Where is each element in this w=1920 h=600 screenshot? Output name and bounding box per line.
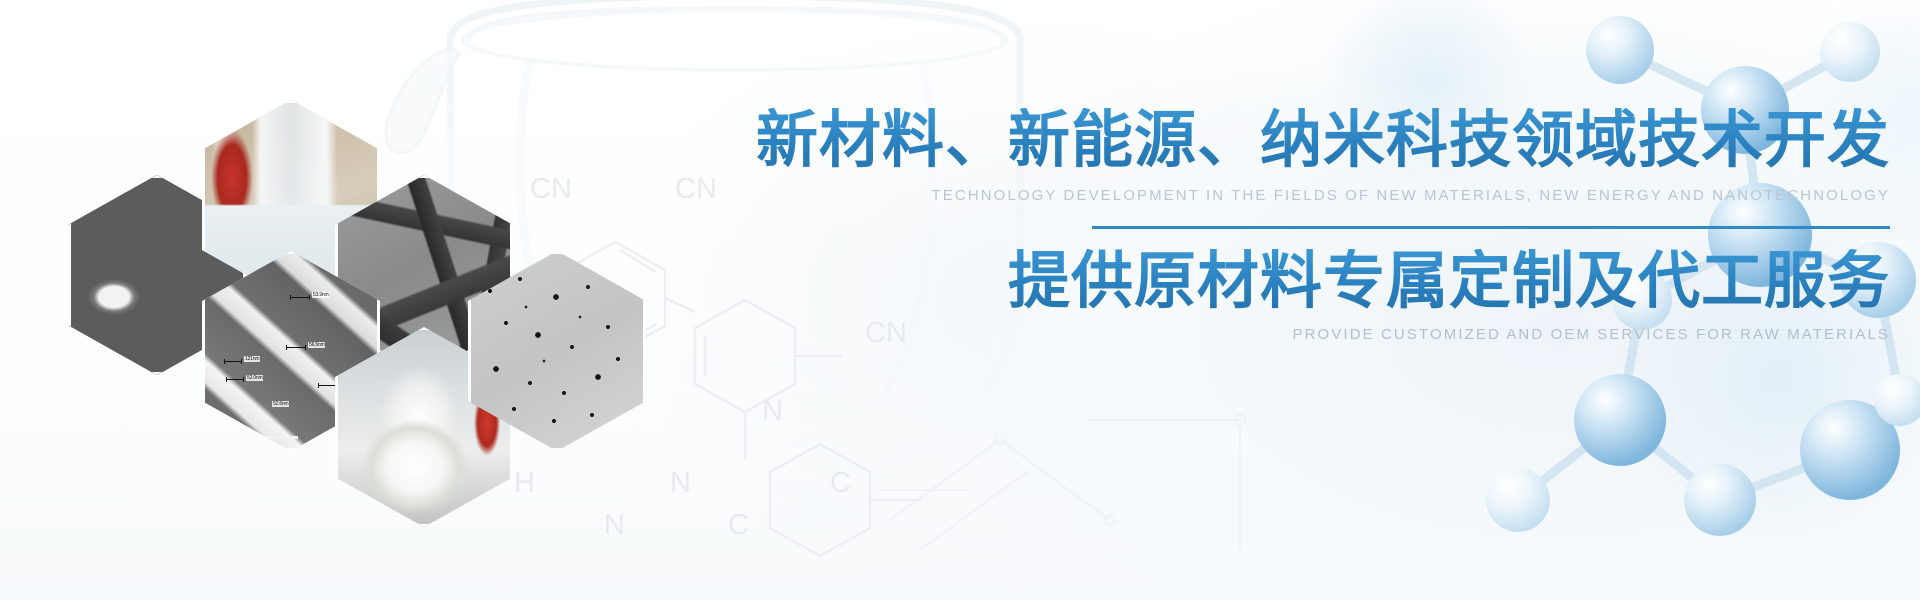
measure-label-2: 52.0nm (246, 375, 263, 381)
svg-text:C: C (728, 509, 749, 541)
scale-bar (254, 436, 298, 439)
measure-tick (318, 385, 336, 386)
svg-text:N: N (604, 509, 625, 541)
measure-tick (290, 297, 310, 298)
svg-text:N: N (670, 467, 691, 499)
schematic-lineart (880, 380, 1300, 600)
headline-primary: 新材料、新能源、纳米科技领域技术开发 (640, 108, 1890, 174)
measure-tick (226, 379, 244, 380)
headline-divider (1092, 226, 1890, 229)
banner-text-block: 新材料、新能源、纳米科技领域技术开发 TECHNOLOGY DEVELOPMEN… (640, 108, 1890, 343)
subtitle-secondary: PROVIDE CUSTOMIZED AND OEM SERVICES FOR … (640, 326, 1890, 343)
measure-label-4: 52.6nm (272, 401, 289, 407)
tem-instrument: SU8000 (210, 442, 227, 448)
measure-tick (224, 361, 242, 362)
measure-label-5: 121nm (244, 356, 260, 362)
measure-label-1: 56.5nm (308, 342, 325, 348)
subtitle-primary: TECHNOLOGY DEVELOPMENT IN THE FIELDS OF … (640, 187, 1890, 204)
hexagon-image-gallery: 53.9nm 56.5nm 121nm 52.0nm 57.1nm 52.6nm… (58, 95, 618, 495)
svg-text:C: C (830, 467, 851, 499)
headline-secondary: 提供原材料专属定制及代工服务 (640, 249, 1890, 315)
hero-banner: CN CN CN N N C H N C (0, 0, 1920, 600)
measure-tick (286, 347, 306, 348)
svg-text:N: N (762, 395, 783, 427)
measure-label-0: 53.9nm (312, 292, 329, 298)
